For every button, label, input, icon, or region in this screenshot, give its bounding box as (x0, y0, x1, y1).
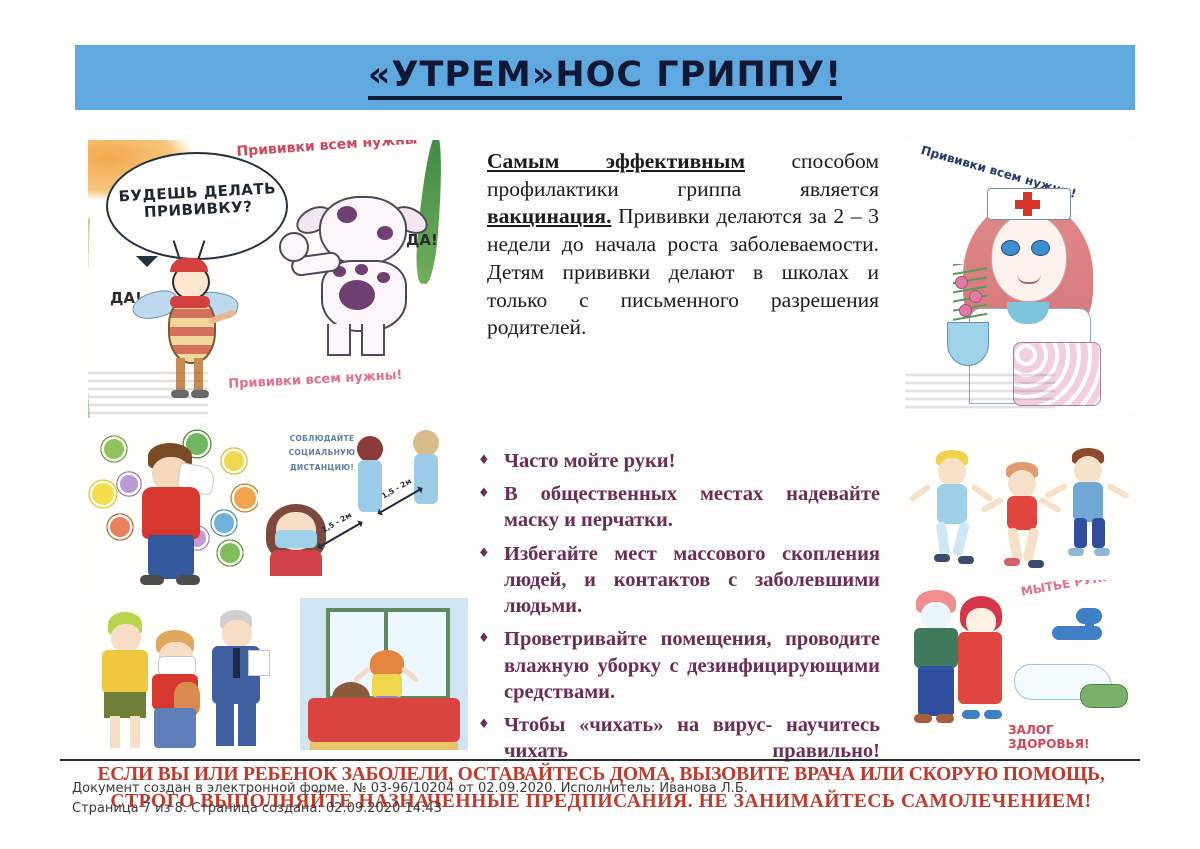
sneezing-man-figure (134, 443, 210, 583)
bullet-icon: ♦ (478, 626, 504, 647)
man-torso (142, 487, 200, 539)
boy-shoe (936, 714, 954, 723)
list-item: ♦ Проветривайте помещения, проводите вла… (478, 626, 880, 705)
child-leg (1092, 518, 1105, 548)
flower-bloom (969, 290, 982, 303)
child-body (1073, 482, 1103, 522)
boy-shoe (914, 714, 932, 723)
virus-icon (92, 483, 114, 505)
flower-bloom (959, 304, 972, 317)
illegible-caption-block (88, 372, 208, 414)
mother-top (102, 650, 148, 694)
faucet-icon (1052, 610, 1114, 654)
illustration-sneezing-man (88, 425, 266, 595)
recommendations-list: ♦ Часто мойте руки! ♦ В общественных мес… (478, 448, 880, 772)
list-item-label: Часто мойте руки! (504, 448, 880, 474)
doctor-face (222, 620, 252, 648)
list-item: ♦ Избегайте мест массового скопления люд… (478, 541, 880, 620)
child-head (1008, 470, 1036, 498)
child-figure (986, 458, 1058, 566)
virus-icon (104, 439, 124, 459)
child-hair (370, 650, 404, 676)
mother-face (111, 624, 141, 652)
paragraph-line: Самым эффективным способом профилактики … (487, 149, 879, 339)
child-head (938, 458, 966, 486)
document-page: «УТРЕМ»НОС ГРИППУ! Прививки всем нужны Б… (0, 0, 1200, 849)
cow-spot (377, 272, 390, 283)
doctor-figure (206, 610, 268, 750)
child-leg (1074, 518, 1087, 548)
cow-spot (337, 206, 357, 223)
illustration-jumping-children (902, 440, 1134, 570)
virus-icon (110, 517, 130, 537)
virus-icon (220, 543, 240, 563)
person-body (358, 460, 382, 512)
masked-boy-figure (144, 624, 206, 750)
faucet-spout (1052, 626, 1102, 640)
illustration-airing-room (300, 598, 468, 750)
faucet-valve (1076, 608, 1102, 624)
red-cross-icon (1015, 200, 1040, 209)
virus-icon (214, 513, 234, 533)
face-mask-icon (275, 530, 317, 548)
child-shoe (934, 554, 950, 562)
flower-vase (947, 322, 989, 366)
illustration-clinic-scene (88, 598, 288, 750)
illegible-caption-block (905, 374, 1055, 408)
handwriting-wash-bottom: ЗАЛОГ ЗДОРОВЬЯ! (1008, 724, 1134, 752)
child-shoe (1094, 548, 1110, 556)
list-item-label: Проветривайте помещения, проводите влажн… (504, 626, 880, 705)
cow-spot (339, 280, 375, 310)
boy-pants (918, 666, 954, 716)
illustration-vaccine-kids: Прививки всем нужны БУДЕШЬ ДЕЛАТЬ ПРИВИВ… (88, 140, 466, 418)
man-shoe-right (176, 575, 200, 585)
bullet-icon: ♦ (478, 712, 504, 733)
list-item-label: В общественных местах надевайте маску и … (504, 481, 880, 533)
cow-leg-right (361, 324, 385, 356)
nurse-eye-left (1001, 240, 1020, 256)
soap-bar-icon (1080, 684, 1128, 708)
bullet-icon: ♦ (478, 481, 504, 502)
girl-dress (958, 632, 1002, 704)
child-body (937, 484, 967, 524)
speech-bubble: БУДЕШЬ ДЕЛАТЬ ПРИВИВКУ? (106, 152, 288, 260)
speech-bubble-text: БУДЕШЬ ДЕЛАТЬ ПРИВИВКУ? (108, 179, 288, 223)
list-item: ♦ В общественных местах надевайте маску … (478, 481, 880, 533)
nurse-figure (961, 190, 1095, 400)
child-leg (952, 521, 970, 556)
child-figure (1052, 448, 1124, 566)
page-title: «УТРЕМ»НОС ГРИППУ! (368, 55, 842, 100)
cow-character (303, 192, 427, 362)
girl-shoe (984, 710, 1002, 719)
boy-face (921, 602, 951, 630)
article-paragraph: Самым эффективным способом профилактики … (487, 148, 879, 342)
bed-frame (310, 742, 458, 750)
illustration-social-distance: СОБЛЮДАЙТЕ СОЦИАЛЬНУЮ ДИСТАНЦИЮ! 1,5 - 2… (258, 430, 466, 580)
child-shoe (1068, 548, 1084, 556)
child-shoe (958, 556, 974, 564)
child-body (1007, 496, 1037, 530)
page-number-line: Страница 7 из 8. Страница создана: 02.09… (72, 799, 748, 819)
virus-icon (234, 487, 256, 509)
document-icon (248, 650, 270, 676)
woman-top (270, 550, 322, 576)
cow-spot (355, 264, 368, 275)
doctor-tie (233, 648, 240, 678)
system-overlay-text: Документ создан в электронной форме. № 0… (72, 779, 748, 819)
bee-scarf (170, 296, 210, 308)
child-head (1074, 456, 1102, 484)
title-banner: «УТРЕМ»НОС ГРИППУ! (75, 45, 1135, 110)
mother-skirt (104, 692, 146, 718)
person-body (414, 454, 438, 504)
list-item-label: Избегайте мест массового скопления людей… (504, 541, 880, 620)
person-head (413, 430, 439, 456)
girl-shoe (962, 710, 980, 719)
bed-shape (308, 698, 460, 742)
document-registration-line: Документ создан в электронной форме. № 0… (72, 779, 748, 799)
person-figure (350, 436, 390, 516)
boy-shirt (914, 628, 958, 668)
virus-icon (224, 451, 244, 471)
nurse-eye-right (1031, 240, 1050, 256)
mother-leg (110, 716, 120, 748)
child-shoe (1028, 560, 1044, 568)
illustration-wash-hands: МЫТЬЕ РУКИ ЗАЛОГ ЗДОРОВЬЯ! (902, 580, 1134, 752)
children-pair-figure (908, 590, 1020, 740)
man-shoe-left (140, 575, 164, 585)
list-item-label: Чтобы «чихать» на вирус- научитесь чихат… (504, 712, 880, 764)
cow-spot (377, 226, 393, 240)
list-item: ♦ Чтобы «чихать» на вирус- научитесь чих… (478, 712, 880, 764)
child-leg (936, 521, 951, 556)
cow-paw (279, 232, 309, 262)
cow-leg-left (327, 324, 351, 356)
mother-leg (130, 716, 140, 748)
child-shoe (1004, 558, 1020, 566)
child-body (372, 674, 402, 698)
man-legs (148, 535, 194, 579)
bullet-icon: ♦ (478, 448, 504, 469)
person-head (357, 436, 383, 462)
child-leg (1023, 527, 1040, 562)
illustration-nurse: Прививки всем нужны! (905, 138, 1135, 410)
masked-woman-figure (264, 504, 328, 576)
child-figure (916, 450, 988, 566)
bee-cap (170, 258, 208, 272)
face-mask-icon (158, 656, 196, 676)
boy-pants (154, 708, 196, 748)
doctor-leg (216, 702, 234, 746)
footer-divider (60, 759, 1140, 761)
bullet-icon: ♦ (478, 541, 504, 562)
nurse-face (991, 214, 1067, 302)
flower-bloom (955, 276, 968, 289)
doctor-leg (238, 702, 256, 746)
list-item: ♦ Часто мойте руки! (478, 448, 880, 474)
